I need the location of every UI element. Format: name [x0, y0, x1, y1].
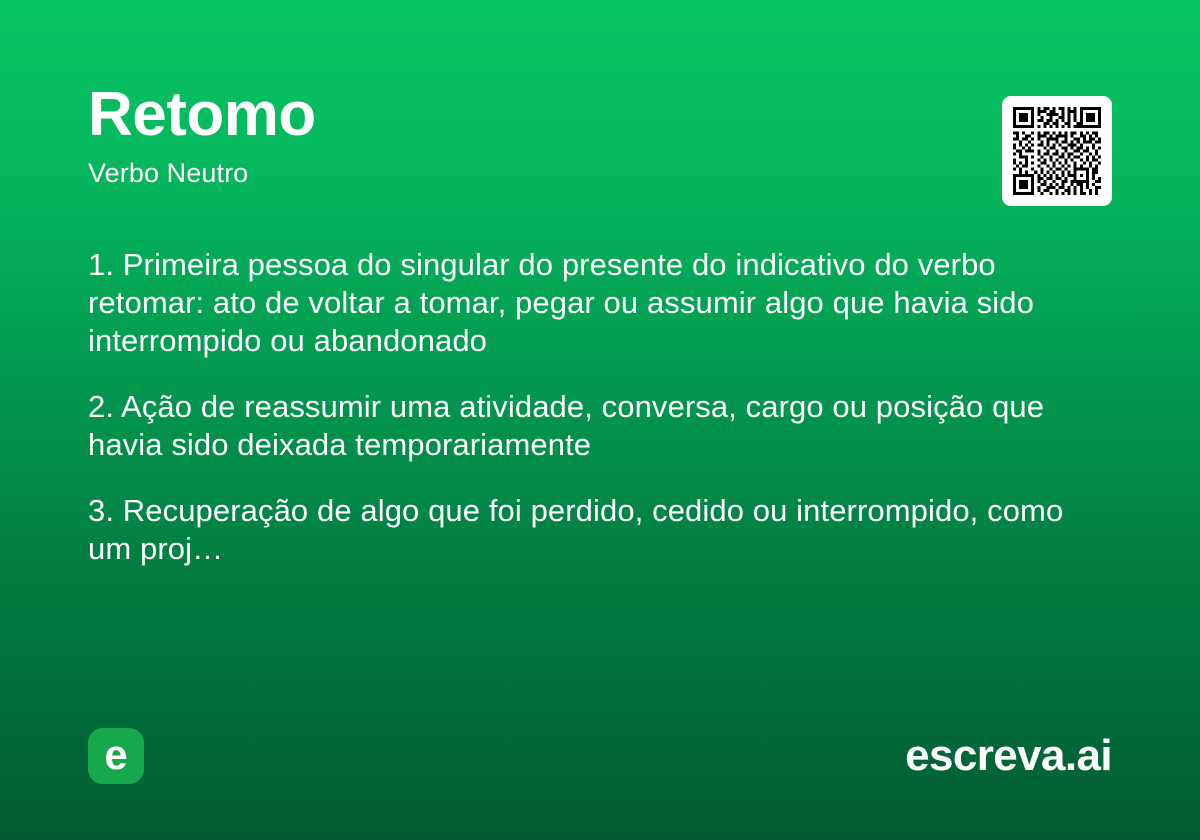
definition-item: 1. Primeira pessoa do singular do presen…: [88, 246, 1110, 360]
card-footer: e escreva.ai: [88, 728, 1112, 784]
word-class-label: Verbo Neutro: [88, 160, 1112, 187]
qr-code-panel[interactable]: [1002, 96, 1112, 206]
qr-code-icon: [1013, 107, 1101, 195]
definition-list: 1. Primeira pessoa do singular do presen…: [88, 246, 1110, 568]
brand-logo-letter: e: [104, 734, 127, 776]
definition-item: 2. Ação de reassumir uma atividade, conv…: [88, 388, 1110, 464]
page-title: Retomo: [88, 84, 1112, 146]
definition-card: Retomo Verbo Neutro: [0, 0, 1200, 840]
card-header: Retomo Verbo Neutro: [88, 84, 1112, 187]
brand-name: escreva.ai: [905, 734, 1112, 778]
brand-logo-icon: e: [88, 728, 144, 784]
definition-item: 3. Recuperação de algo que foi perdido, …: [88, 492, 1110, 568]
